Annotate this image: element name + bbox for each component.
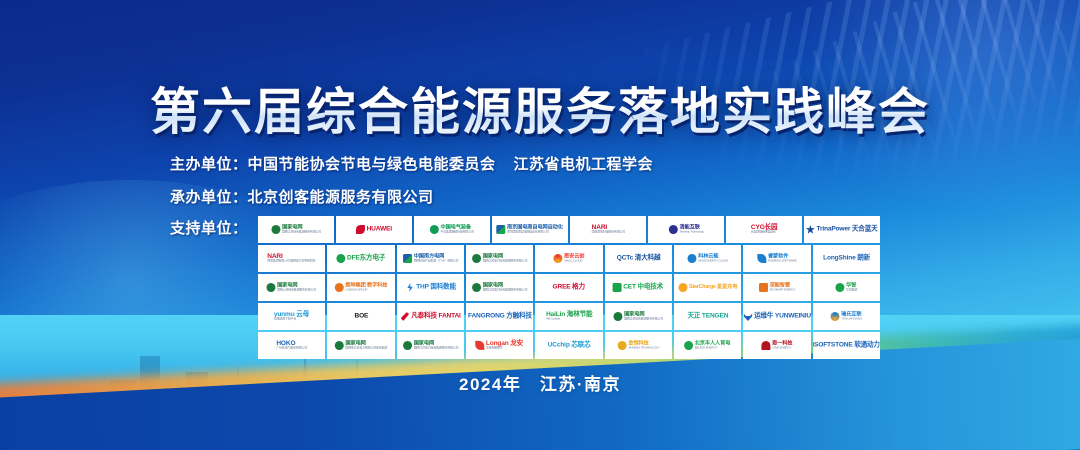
logo-name: 天正 TENGEN bbox=[687, 313, 728, 320]
supporter-logo-4-3[interactable]: Longan 龙安龙安控制技术 bbox=[466, 332, 533, 359]
logo-text: 睿蒙软件RUIMENG SOFTWARE bbox=[768, 254, 797, 263]
supporter-logo-0-6[interactable]: CYG长园长园深瑞继保自动化 bbox=[726, 216, 802, 243]
supporter-logo-4-1[interactable]: 国家电网国网浙江省电力有限公司综合能源 bbox=[327, 332, 394, 359]
logo-row: NARI南瑞集团有限公司 国网电力科学研究院DFE东方电子中国南方电网南网科技产… bbox=[258, 245, 880, 272]
logo-name: QCTc 清大科越 bbox=[617, 255, 661, 262]
dual-mark-icon bbox=[497, 225, 506, 234]
circle-mark-icon bbox=[472, 254, 481, 263]
logo-subtitle: BEIJING ENERGY bbox=[695, 347, 731, 350]
logo-row: HOKO广州宏电气股份有限公司国家电网国网浙江省电力有限公司综合能源国家电网国网… bbox=[258, 332, 880, 359]
logo-subtitle: SE SMART ENERGY bbox=[769, 289, 795, 292]
logo-subtitle: 长园深瑞继保自动化 bbox=[751, 231, 778, 234]
swirl-mark-icon bbox=[830, 312, 839, 321]
logo-subtitle: 南网科技产业集团（广州）有限公司 bbox=[413, 260, 458, 263]
supporter-logo-3-6[interactable]: 天正 TENGEN bbox=[674, 303, 741, 330]
logo-subtitle: KELIN ENERGY CLOUD bbox=[698, 260, 728, 263]
supporter-logo-1-0[interactable]: NARI南瑞集团有限公司 国网电力科学研究院 bbox=[258, 245, 325, 272]
supporter-logo-0-2[interactable]: 中国电气装备平高集团储能科技有限公司 bbox=[414, 216, 490, 243]
logo-content: 瑞氏互联YUN LIAN DONG bbox=[830, 312, 862, 321]
logo-content: NARI南瑞集团有限公司 国网电力科学研究院 bbox=[268, 254, 316, 264]
logo-text: HOKO广州宏电气股份有限公司 bbox=[276, 341, 307, 351]
supporter-logo-3-4[interactable]: HaiLin 海林节能HB Controls bbox=[535, 303, 602, 330]
leaf-mark-icon bbox=[476, 341, 485, 350]
logo-content: 国家电网国网江苏电力综合能源服务有限公司 bbox=[403, 341, 458, 350]
logo-content: 国家电网国网江苏综合能源服务有限公司 bbox=[613, 312, 663, 321]
logo-content: 恩一科技CAVE ENERGY bbox=[761, 341, 792, 350]
logo-text: 国家电网国网江苏综合能源服务有限公司 bbox=[282, 225, 321, 234]
leaf-mark-icon bbox=[757, 254, 766, 263]
circle-mark-icon bbox=[430, 225, 439, 234]
logo-subtitle: 华智能源 bbox=[846, 289, 857, 292]
supporter-logo-4-5[interactable]: 金恒科技JINHENG TECHNOLOGY bbox=[605, 332, 672, 359]
supporter-logo-0-1[interactable]: HUAWEI bbox=[336, 216, 412, 243]
supporter-logo-1-8[interactable]: LongShine 朗新 bbox=[813, 245, 880, 272]
supporter-logo-1-4[interactable]: 思安云创SIACC CLOUD bbox=[535, 245, 602, 272]
swirl-mark-icon bbox=[553, 254, 562, 263]
logo-subtitle: 云母能源下载平台 bbox=[274, 318, 309, 321]
logo-text: 中国南方电网南网科技产业集团（广州）有限公司 bbox=[413, 254, 458, 263]
supporter-logo-4-2[interactable]: 国家电网国网江苏电力综合能源服务有限公司 bbox=[397, 332, 464, 359]
logo-text: 国家电网国网上海综合能源服务有限公司 bbox=[278, 283, 317, 292]
supporter-logo-3-1[interactable]: BOE bbox=[327, 303, 394, 330]
logo-row: 国家电网国网上海综合能源服务有限公司朗坤集团 数字科技LANDUN GROUPT… bbox=[258, 274, 880, 301]
logo-name: GREE 格力 bbox=[553, 284, 585, 291]
logo-content: 金恒科技JINHENG TECHNOLOGY bbox=[617, 341, 659, 350]
logo-text: 运维牛 YUNWEINIU bbox=[754, 313, 811, 320]
logo-content: 天正 TENGEN bbox=[687, 313, 728, 320]
logo-text: 华智华智能源 bbox=[846, 283, 857, 292]
logo-subtitle: 国电南瑞科技股份有限公司 bbox=[591, 231, 624, 234]
logo-subtitle: LANDUN GROUP bbox=[345, 289, 387, 292]
logo-subtitle: 南京国电南自电网自动化有限公司 bbox=[507, 231, 563, 234]
logo-content: 国家电网国网江苏电力综合能源服务有限公司 bbox=[472, 254, 527, 263]
logo-subtitle: 国网江苏综合能源服务有限公司 bbox=[624, 318, 663, 321]
logo-content: 睿蒙软件RUIMENG SOFTWARE bbox=[757, 254, 796, 263]
logo-text: 国家电网国网江苏电力综合能源服务有限公司 bbox=[483, 254, 528, 263]
supporter-logo-3-0[interactable]: yunmu 云母云母能源下载平台 bbox=[258, 303, 325, 330]
support-label: 支持单位： bbox=[170, 217, 248, 238]
logo-text: NARI南瑞集团有限公司 国网电力科学研究院 bbox=[268, 254, 316, 264]
logo-subtitle: 国网江苏电力综合能源服务有限公司 bbox=[483, 289, 528, 292]
circle-mark-icon bbox=[472, 283, 481, 292]
logo-content: FANGRONG 方融科技 bbox=[468, 313, 532, 320]
logo-content: UCchip 芯联芯 bbox=[548, 342, 591, 349]
logo-content: 凡泰科技 FANTAI bbox=[400, 312, 460, 321]
logo-name: 凡泰科技 FANTAI bbox=[411, 313, 460, 320]
supporter-logo-3-5[interactable]: 国家电网国网江苏综合能源服务有限公司 bbox=[605, 303, 672, 330]
logo-subtitle: YUN LIAN DONG bbox=[841, 318, 862, 321]
logo-subtitle: 平高集团储能科技有限公司 bbox=[441, 231, 474, 234]
supporter-logo-4-0[interactable]: HOKO广州宏电气股份有限公司 bbox=[258, 332, 325, 359]
logo-content: QCTc 清大科越 bbox=[617, 255, 661, 262]
circle-mark-icon bbox=[687, 254, 696, 263]
logo-content: 国家电网国网上海综合能源服务有限公司 bbox=[267, 283, 317, 292]
swoosh-mark-icon bbox=[400, 312, 409, 321]
supporter-logo-2-6[interactable]: StarCharge 星星充电 bbox=[674, 274, 741, 301]
organizer-value-2: 江苏省电机工程学会 bbox=[514, 156, 654, 173]
supporter-logo-1-6[interactable]: 科林云能KELIN ENERGY CLOUD bbox=[674, 245, 741, 272]
circle-mark-icon bbox=[337, 254, 346, 263]
logo-subtitle: RUIMENG SOFTWARE bbox=[768, 260, 797, 263]
logo-subtitle: 南瑞集团有限公司 国网电力科学研究院 bbox=[268, 260, 316, 263]
logo-name: THP 国科数能 bbox=[416, 284, 456, 291]
logo-text: HaiLin 海林节能HB Controls bbox=[546, 312, 592, 322]
logo-text: 国家电网国网江苏综合能源服务有限公司 bbox=[624, 312, 663, 321]
logo-text: 深能智慧SE SMART ENERGY bbox=[769, 283, 795, 292]
supporter-logo-1-5[interactable]: QCTc 清大科越 bbox=[605, 245, 672, 272]
supporter-logo-4-7[interactable]: 恩一科技CAVE ENERGY bbox=[743, 332, 810, 359]
logo-subtitle: Tsintergy Technology bbox=[679, 231, 703, 234]
supporter-logo-4-4[interactable]: UCchip 芯联芯 bbox=[535, 332, 602, 359]
logo-content: HOKO广州宏电气股份有限公司 bbox=[276, 341, 307, 351]
host-value: 北京创客能源服务有限公司 bbox=[248, 189, 434, 206]
organizer-label: 主办单位： bbox=[170, 156, 248, 173]
logo-content: Longan 龙安龙安控制技术 bbox=[476, 341, 524, 351]
supporter-logo-0-4[interactable]: NARI国电南瑞科技股份有限公司 bbox=[570, 216, 646, 243]
logo-text: CYG长园长园深瑞继保自动化 bbox=[751, 225, 778, 235]
supporter-logo-2-7[interactable]: 深能智慧SE SMART ENERGY bbox=[743, 274, 810, 301]
logo-content: 朗坤集团 数字科技LANDUN GROUP bbox=[335, 283, 388, 292]
bull-mark-icon bbox=[743, 312, 752, 321]
supporter-logo-0-5[interactable]: 清能互联Tsintergy Technology bbox=[648, 216, 724, 243]
logo-subtitle: 龙安控制技术 bbox=[486, 347, 523, 350]
logo-text: StarCharge 星星充电 bbox=[689, 285, 737, 291]
supporter-logo-1-7[interactable]: 睿蒙软件RUIMENG SOFTWARE bbox=[743, 245, 810, 272]
logo-subtitle: CAVE ENERGY bbox=[772, 347, 792, 350]
logo-subtitle: 国网上海综合能源服务有限公司 bbox=[278, 289, 317, 292]
logo-content: DFE东方电子 bbox=[337, 254, 386, 263]
logo-text: 科林云能KELIN ENERGY CLOUD bbox=[698, 254, 728, 263]
banner-content: 第六届综合能源服务落地实践峰会 主办单位：中国节能协会节电与绿色电能委员会江苏省… bbox=[0, 0, 1080, 450]
logo-subtitle: 国网江苏电力综合能源服务有限公司 bbox=[483, 260, 528, 263]
logo-text: 国家电网国网江苏电力综合能源服务有限公司 bbox=[413, 341, 458, 350]
logo-content: iSOFTSTONE 软通动力 bbox=[813, 342, 880, 349]
logo-text: 朗坤集团 数字科技LANDUN GROUP bbox=[345, 283, 387, 292]
logo-name: iSOFTSTONE 软通动力 bbox=[813, 342, 880, 349]
supporter-logo-4-6[interactable]: 北京丰人人育电BEIJING ENERGY bbox=[674, 332, 741, 359]
logo-name: CET 中电技术 bbox=[624, 284, 664, 291]
logo-text: Longan 龙安龙安控制技术 bbox=[486, 341, 523, 351]
supporter-logo-2-3[interactable]: 国家电网国网江苏电力综合能源服务有限公司 bbox=[466, 274, 533, 301]
logo-content: 中国电气装备平高集团储能科技有限公司 bbox=[430, 225, 474, 234]
logo-text: 天正 TENGEN bbox=[687, 313, 728, 320]
logo-text: 恩一科技CAVE ENERGY bbox=[772, 341, 792, 350]
logo-subtitle: 国网江苏综合能源服务有限公司 bbox=[282, 231, 321, 234]
circle-mark-icon bbox=[335, 283, 344, 292]
circle-mark-icon bbox=[669, 225, 678, 234]
supporter-logo-3-2[interactable]: 凡泰科技 FANTAI bbox=[397, 303, 464, 330]
sq-mark-icon bbox=[613, 283, 622, 292]
circle-mark-icon bbox=[271, 225, 280, 234]
organizer-value: 中国节能协会节电与绿色电能委员会 bbox=[248, 156, 496, 173]
snow-mark-icon bbox=[806, 225, 815, 234]
logo-name: DFE东方电子 bbox=[347, 255, 385, 262]
logo-name: UCchip 芯联芯 bbox=[548, 342, 591, 349]
logo-content: StarCharge 星星充电 bbox=[678, 283, 737, 292]
logo-row: yunmu 云母云母能源下载平台BOE凡泰科技 FANTAIFANGRONG 方… bbox=[258, 303, 880, 330]
logo-subtitle: 国网江苏电力综合能源服务有限公司 bbox=[413, 347, 458, 350]
logo-text: TrinaPower 天合蓝天 bbox=[817, 226, 878, 233]
logo-content: 思安云创SIACC CLOUD bbox=[553, 254, 584, 263]
logo-subtitle: HB Controls bbox=[546, 318, 592, 321]
organizer-line: 主办单位：中国节能协会节电与绿色电能委员会江苏省电机工程学会 bbox=[170, 153, 653, 174]
logo-subtitle: JINHENG TECHNOLOGY bbox=[628, 347, 659, 350]
logo-subtitle: 国网浙江省电力有限公司综合能源 bbox=[345, 347, 387, 350]
supporter-logo-1-3[interactable]: 国家电网国网江苏电力综合能源服务有限公司 bbox=[466, 245, 533, 272]
circle-mark-icon bbox=[613, 312, 622, 321]
logo-text: CET 中电技术 bbox=[624, 284, 664, 291]
circle-mark-icon bbox=[267, 283, 276, 292]
logo-name: HUAWEI bbox=[367, 226, 392, 233]
conference-banner: 第六届综合能源服务落地实践峰会 主办单位：中国节能协会节电与绿色电能委员会江苏省… bbox=[0, 0, 1080, 450]
circle-mark-icon bbox=[685, 341, 694, 350]
supporter-logo-2-5[interactable]: CET 中电技术 bbox=[605, 274, 672, 301]
logo-subtitle: SIACC CLOUD bbox=[564, 260, 584, 263]
supporter-logo-0-0[interactable]: 国家电网国网江苏综合能源服务有限公司 bbox=[258, 216, 334, 243]
logo-content: 国家电网国网江苏综合能源服务有限公司 bbox=[271, 225, 321, 234]
supporter-logo-0-3[interactable]: 南京国电南自电网自动化南京国电南自电网自动化有限公司 bbox=[492, 216, 568, 243]
event-date-location: 2024年 江苏·南京 bbox=[0, 370, 1080, 395]
supporter-logo-0-7[interactable]: TrinaPower 天合蓝天 bbox=[804, 216, 880, 243]
logo-text: 清能互联Tsintergy Technology bbox=[679, 225, 703, 234]
logo-name: TrinaPower 天合蓝天 bbox=[817, 226, 878, 233]
arch-mark-icon bbox=[761, 341, 770, 350]
logo-text: 金恒科技JINHENG TECHNOLOGY bbox=[628, 341, 659, 350]
supporter-logo-3-3[interactable]: FANGRONG 方融科技 bbox=[466, 303, 533, 330]
gear-mark-icon bbox=[678, 283, 687, 292]
logo-text: iSOFTSTONE 软通动力 bbox=[813, 342, 880, 349]
page-title: 第六届综合能源服务落地实践峰会 bbox=[0, 72, 1080, 144]
bolt-mark-icon bbox=[405, 283, 414, 292]
supporter-logo-3-7[interactable]: 运维牛 YUNWEINIU bbox=[743, 303, 810, 330]
logo-text: DFE东方电子 bbox=[347, 255, 385, 262]
logo-content: 深能智慧SE SMART ENERGY bbox=[759, 283, 795, 292]
logo-text: UCchip 芯联芯 bbox=[548, 342, 591, 349]
logo-text: 国家电网国网江苏电力综合能源服务有限公司 bbox=[483, 283, 528, 292]
supporter-logo-3-8[interactable]: 瑞氏互联YUN LIAN DONG bbox=[813, 303, 880, 330]
logo-content: LongShine 朗新 bbox=[823, 255, 870, 262]
logo-content: CYG长园长园深瑞继保自动化 bbox=[751, 225, 778, 235]
logo-text: 中国电气装备平高集团储能科技有限公司 bbox=[441, 225, 474, 234]
logo-text: FANGRONG 方融科技 bbox=[468, 313, 532, 320]
logo-text: GREE 格力 bbox=[553, 284, 585, 291]
logo-text: 南京国电南自电网自动化南京国电南自电网自动化有限公司 bbox=[507, 225, 563, 234]
logo-text: yunmu 云母云母能源下载平台 bbox=[274, 312, 309, 322]
circle-mark-icon bbox=[335, 341, 344, 350]
logo-text: HUAWEI bbox=[367, 226, 392, 233]
logo-text: LongShine 朗新 bbox=[823, 255, 870, 262]
supporter-logo-wall: 国家电网国网江苏综合能源服务有限公司HUAWEI中国电气装备平高集团储能科技有限… bbox=[258, 216, 880, 361]
supporter-logo-1-2[interactable]: 中国南方电网南网科技产业集团（广州）有限公司 bbox=[397, 245, 464, 272]
petal-mark-icon bbox=[356, 225, 365, 234]
logo-content: 中国南方电网南网科技产业集团（广州）有限公司 bbox=[403, 254, 458, 263]
logo-content: 国家电网国网浙江省电力有限公司综合能源 bbox=[335, 341, 387, 350]
logo-name: BOE bbox=[354, 313, 368, 320]
logo-name: 运维牛 YUNWEINIU bbox=[754, 313, 811, 320]
logo-text: THP 国科数能 bbox=[416, 284, 456, 291]
dual-mark-icon bbox=[403, 254, 412, 263]
logo-content: yunmu 云母云母能源下载平台 bbox=[274, 312, 309, 322]
logo-content: THP 国科数能 bbox=[405, 283, 455, 292]
sq-mark-icon bbox=[759, 283, 768, 292]
logo-content: 运维牛 YUNWEINIU bbox=[743, 312, 810, 321]
logo-content: GREE 格力 bbox=[553, 284, 585, 291]
logo-text: NARI国电南瑞科技股份有限公司 bbox=[591, 225, 624, 235]
supporter-logo-2-0[interactable]: 国家电网国网上海综合能源服务有限公司 bbox=[258, 274, 325, 301]
host-line: 承办单位：北京创客能源服务有限公司 bbox=[170, 186, 434, 207]
logo-text: BOE bbox=[354, 313, 368, 320]
logo-text: 国家电网国网浙江省电力有限公司综合能源 bbox=[345, 341, 387, 350]
supporter-logo-2-4[interactable]: GREE 格力 bbox=[535, 274, 602, 301]
logo-content: 清能互联Tsintergy Technology bbox=[669, 225, 704, 234]
logo-text: 瑞氏互联YUN LIAN DONG bbox=[841, 312, 862, 321]
logo-content: NARI国电南瑞科技股份有限公司 bbox=[591, 225, 624, 235]
logo-name: LongShine 朗新 bbox=[823, 255, 870, 262]
logo-content: HUAWEI bbox=[356, 225, 392, 234]
logo-name: StarCharge 星星充电 bbox=[689, 285, 737, 291]
logo-text: 思安云创SIACC CLOUD bbox=[564, 254, 584, 263]
supporter-logo-2-8[interactable]: 华智华智能源 bbox=[813, 274, 880, 301]
supporter-logo-2-1[interactable]: 朗坤集团 数字科技LANDUN GROUP bbox=[327, 274, 394, 301]
logo-subtitle: 广州宏电气股份有限公司 bbox=[276, 347, 307, 350]
logo-content: CET 中电技术 bbox=[613, 283, 664, 292]
host-label: 承办单位： bbox=[170, 189, 248, 206]
logo-text: 北京丰人人育电BEIJING ENERGY bbox=[695, 341, 731, 350]
logo-content: 华智华智能源 bbox=[835, 283, 857, 292]
supporter-logo-4-8[interactable]: iSOFTSTONE 软通动力 bbox=[813, 332, 880, 359]
logo-name: FANGRONG 方融科技 bbox=[468, 313, 532, 320]
logo-text: QCTc 清大科越 bbox=[617, 255, 661, 262]
logo-row: 国家电网国网江苏综合能源服务有限公司HUAWEI中国电气装备平高集团储能科技有限… bbox=[258, 216, 880, 243]
circle-mark-icon bbox=[403, 341, 412, 350]
circle-mark-icon bbox=[835, 283, 844, 292]
logo-content: HaiLin 海林节能HB Controls bbox=[546, 312, 592, 322]
logo-content: BOE bbox=[354, 313, 368, 320]
logo-content: 国家电网国网江苏电力综合能源服务有限公司 bbox=[472, 283, 527, 292]
logo-text: 凡泰科技 FANTAI bbox=[411, 313, 460, 320]
logo-content: 北京丰人人育电BEIJING ENERGY bbox=[685, 341, 731, 350]
logo-content: 南京国电南自电网自动化南京国电南自电网自动化有限公司 bbox=[497, 225, 564, 234]
logo-content: TrinaPower 天合蓝天 bbox=[806, 225, 878, 234]
supporter-logo-2-2[interactable]: THP 国科数能 bbox=[397, 274, 464, 301]
circle-mark-icon bbox=[617, 341, 626, 350]
supporter-logo-1-1[interactable]: DFE东方电子 bbox=[327, 245, 394, 272]
logo-content: 科林云能KELIN ENERGY CLOUD bbox=[687, 254, 728, 263]
